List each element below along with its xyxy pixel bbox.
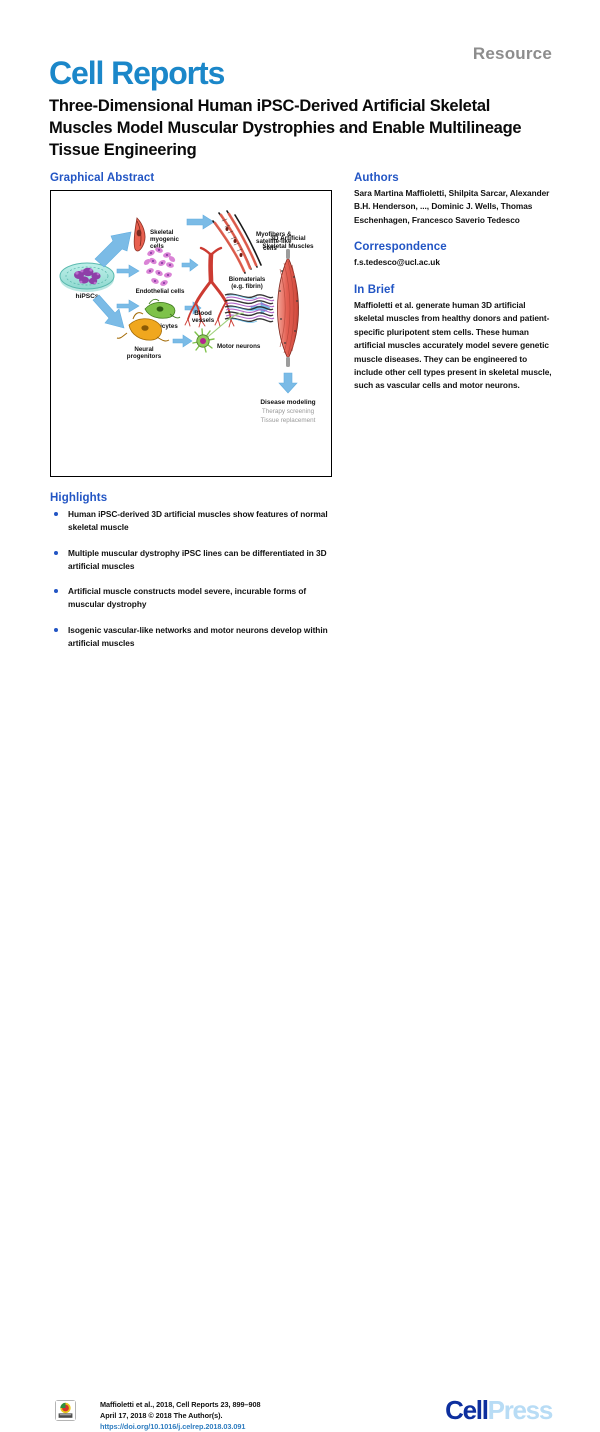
correspondence-block: Correspondence f.s.tedesco@ucl.ac.uk [354,241,554,269]
article-type-label: Resource [473,44,552,64]
arrow-to-motor-neurons [173,335,192,347]
biomaterial-mesh-illustration [225,294,274,322]
highlight-item: Multiple muscular dystrophy iPSC lines c… [50,547,342,573]
authors-heading: Authors [354,172,554,184]
cell-press-logo-cell: Cell [445,1395,487,1425]
label-skeletal-myogenic-line2: myogenic [150,236,179,243]
arrow-to-pericytes [117,300,139,312]
highlight-text: Human iPSC-derived 3D artificial muscles… [68,509,328,532]
in-brief-block: In Brief Maffioletti et al. generate hum… [354,284,554,393]
label-disease-modeling: Disease modeling [260,399,315,406]
pericyte-illustration [145,299,180,318]
doi-link[interactable]: https://doi.org/10.1016/j.celrep.2018.03… [100,1421,261,1432]
hipsc-dish-illustration [60,263,114,292]
endothelial-cells-illustration [143,246,177,287]
highlight-item: Human iPSC-derived 3D artificial muscles… [50,508,342,534]
label-neural-progenitors-line2: progenitors [127,353,162,360]
open-access-icon [55,1400,76,1421]
label-biomaterials-line1: Biomaterials [229,276,266,283]
arrow-to-endothelial [117,265,139,277]
in-brief-heading: In Brief [354,284,554,296]
article-metadata-column: Authors Sara Martina Maffioletti, Shilpi… [354,172,554,393]
myofibers-illustration [213,211,261,273]
cell-press-logo: CellPress [445,1397,552,1423]
page-title: Three-Dimensional Human iPSC-Derived Art… [49,96,549,162]
correspondence-email[interactable]: f.s.tedesco@ucl.ac.uk [354,256,554,269]
label-skeletal-myogenic-line1: Skeletal [150,229,174,236]
bullet-icon [54,589,58,593]
citation-line-2: April 17, 2018 © 2018 The Author(s). [100,1410,261,1421]
highlight-item: Isogenic vascular-like networks and moto… [50,624,342,650]
label-artificial-muscle-line2: Skeletal Muscles [262,243,314,250]
graphical-abstract-figure: hiPSCs Skeletal myogenic cells [50,190,332,477]
label-endothelial-cells: Endothelial cells [136,288,185,295]
label-biomaterials-line2: (e.g. fibrin) [231,283,262,290]
article-first-page: Resource Cell Reports Three-Dimensional … [0,0,600,779]
arrow-to-outcomes [279,373,297,393]
label-blood-vessels-line2: vessels [192,317,215,324]
graphical-abstract-heading: Graphical Abstract [50,172,154,184]
cell-press-logo-press: Press [488,1395,552,1425]
bullet-icon [54,551,58,555]
highlight-text: Isogenic vascular-like networks and moto… [68,625,328,648]
footer-citation: Maffioletti et al., 2018, Cell Reports 2… [100,1399,261,1432]
label-motor-neurons: Motor neurons [217,343,261,350]
highlights-list: Human iPSC-derived 3D artificial muscles… [50,508,342,663]
bullet-icon [54,512,58,516]
arrow-endothelial-to-vessels [182,259,198,271]
arrow-to-myofibers [187,215,214,229]
correspondence-heading: Correspondence [354,241,554,253]
in-brief-text: Maffioletti et al. generate human 3D art… [354,299,554,393]
highlights-heading: Highlights [50,492,107,504]
highlight-item: Artificial muscle constructs model sever… [50,585,342,611]
citation-line-1: Maffioletti et al., 2018, Cell Reports 2… [100,1399,261,1410]
label-artificial-muscle-line1: 3D Artificial [270,235,306,242]
label-tissue-replacement: Tissue replacement [261,417,316,424]
arrow-to-myogenic [95,232,131,267]
artificial-muscle-construct [277,249,298,367]
highlight-text: Multiple muscular dystrophy iPSC lines c… [68,548,327,571]
highlight-text: Artificial muscle constructs model sever… [68,586,306,609]
arrow-to-neural [93,295,124,328]
authors-list: Sara Martina Maffioletti, Shilpita Sarca… [354,187,554,227]
authors-block: Authors Sara Martina Maffioletti, Shilpi… [354,172,554,227]
bullet-icon [54,628,58,632]
page-footer: Maffioletti et al., 2018, Cell Reports 2… [0,697,600,757]
journal-name: Cell Reports [49,55,224,92]
label-neural-progenitors-line1: Neural [134,346,154,353]
myogenic-cell-illustration [134,218,145,251]
label-blood-vessels-line1: Blood [194,310,212,317]
graphical-abstract-diagram: hiPSCs Skeletal myogenic cells [51,191,333,478]
label-therapy-screening: Therapy screening [262,408,315,415]
